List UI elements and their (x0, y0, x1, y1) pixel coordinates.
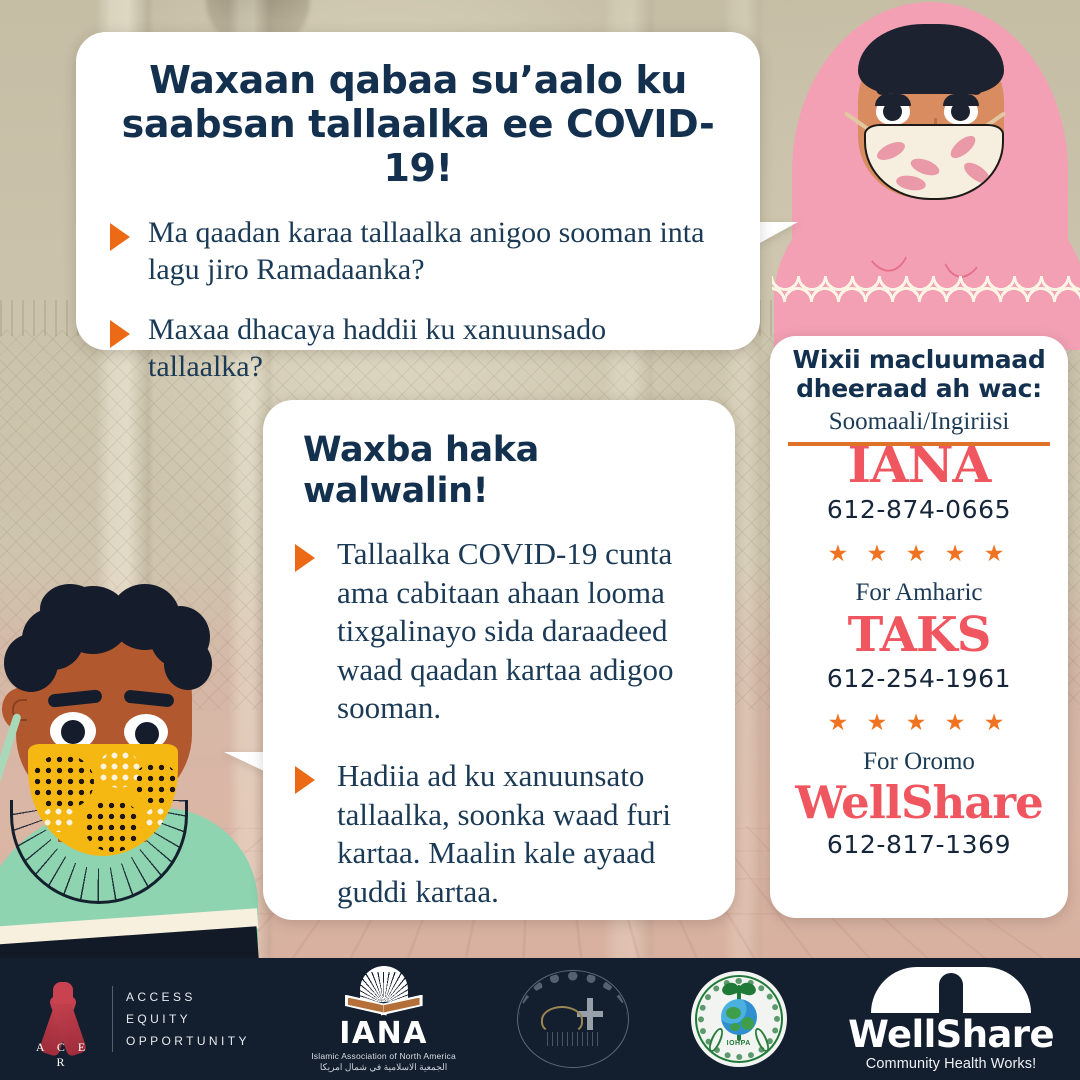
triangle-arrow-icon (295, 766, 315, 794)
man-hair (0, 584, 212, 706)
mask-dot-pattern (134, 762, 178, 804)
contact-org-name: IANA (784, 440, 1054, 490)
iana-book-dome-icon (345, 966, 423, 1018)
acer-value-access: ACCESS (126, 986, 250, 1008)
question-bullet-item: Ma qaadan karaa tallaalka anigoo sooman … (110, 214, 726, 288)
logo-ethiopian-seal (517, 970, 629, 1068)
star-divider: ★ ★ ★ ★ ★ (784, 709, 1054, 736)
contact-phone-number[interactable]: 612-817-1369 (784, 830, 1054, 859)
acer-wordmark: A C E R (26, 1040, 100, 1070)
contact-language-label: Soomaali/Ingiriisi (784, 408, 1054, 436)
globe-landmass (730, 1023, 740, 1031)
mask-dot-pattern (144, 806, 178, 834)
answer-bullet-text: Tallaalka COVID-19 cunta ama cabitaan ah… (337, 535, 701, 727)
contact-phone-number[interactable]: 612-254-1961 (784, 664, 1054, 693)
woman-eyelid (875, 94, 911, 106)
contact-phone-number[interactable]: 612-874-0665 (784, 495, 1054, 524)
poster-canvas: Waxaan qabaa su’aalo ku saabsan tallaalk… (0, 0, 1080, 1080)
question-bullet-item: Maxaa dhacaya haddii ku xanuunsado talla… (110, 311, 726, 385)
contact-language-label: For Amharic (784, 579, 1054, 607)
mask-dot-pattern (32, 754, 94, 810)
wellshare-wordmark: WellShare (848, 1016, 1054, 1053)
triangle-arrow-icon (295, 544, 315, 572)
contact-entry-amharic: For Amharic TAKS 612-254-1961 ★ ★ ★ ★ ★ (784, 579, 1054, 736)
contact-card-heading: Wixii macluumaad dheeraad ah wac: (784, 346, 1054, 404)
globe-landmass (726, 1007, 741, 1019)
iana-ray-lines (360, 972, 408, 1004)
answer-bubble-tail (224, 752, 266, 792)
acer-value-opportunity: OPPORTUNITY (126, 1030, 250, 1052)
iana-arabic-subtitle: الجمعية الاسلامية في شمال امريكا (320, 1062, 447, 1073)
logo-iohpa: IOHPA (691, 971, 787, 1067)
answer-bullet-text: Hadiia ad ku xanuunsato tallaalka, soonk… (337, 757, 701, 911)
seal-emblem (539, 992, 607, 1048)
iohpa-seal-icon: IOHPA (691, 971, 787, 1067)
logo-acer: A C E R ACCESS EQUITY OPPORTUNITY (26, 984, 250, 1054)
question-bubble-tail (758, 222, 798, 266)
triangle-arrow-icon (110, 320, 130, 348)
triangle-arrow-icon (110, 223, 130, 251)
woman-eyelid (943, 94, 979, 106)
hair-curl (4, 634, 58, 692)
answer-bullet-item: Hadiia ad ku xanuunsato tallaalka, soonk… (295, 757, 701, 911)
mask-leaf-pattern (947, 132, 979, 162)
mask-dot-pattern (84, 800, 142, 852)
answer-bullet-item: Tallaalka COVID-19 cunta ama cabitaan ah… (295, 535, 701, 727)
question-bullet-text: Ma qaadan karaa tallaalka anigoo sooman … (148, 214, 726, 288)
acer-value-equity: EQUITY (126, 1008, 250, 1030)
contact-entry-oromo: For Oromo WellShare 612-817-1369 (784, 748, 1054, 859)
wellshare-tagline: Community Health Works! (866, 1056, 1036, 1072)
ethiopian-seal-icon (517, 970, 629, 1068)
mask-leaf-pattern (909, 155, 942, 178)
iana-subtitle: Islamic Association of North America (311, 1051, 456, 1061)
iohpa-abbreviation: IOHPA (691, 1040, 787, 1047)
contact-org-name: TAKS (784, 611, 1054, 659)
answer-bullet-list: Tallaalka COVID-19 cunta ama cabitaan ah… (295, 535, 701, 911)
answer-speech-bubble: Waxba haka walwalin! Tallaalka COVID-19 … (263, 400, 735, 920)
mask-dot-pattern (42, 806, 76, 832)
contact-org-name: WellShare (784, 780, 1054, 825)
acer-a-icon: A C E R (26, 984, 100, 1054)
globe-icon (721, 999, 757, 1035)
hair-curl (40, 584, 100, 634)
acer-a-apex (53, 982, 73, 1004)
contact-entry-somali: Soomaali/Ingiriisi IANA 612-874-0665 ★ ★… (784, 408, 1054, 567)
woman-illustration (780, 0, 1080, 344)
question-bullet-text: Maxaa dhacaya haddii ku xanuunsado talla… (148, 311, 726, 385)
answer-bubble-title: Waxba haka walwalin! (303, 430, 701, 511)
contact-language-label: For Oromo (784, 748, 1054, 776)
acer-values-list: ACCESS EQUITY OPPORTUNITY (112, 986, 250, 1053)
snake-icon (541, 1006, 583, 1034)
hair-curl (164, 638, 212, 690)
question-bullet-list: Ma qaadan karaa tallaalka anigoo sooman … (110, 214, 726, 385)
footer-logo-bar: A C E R ACCESS EQUITY OPPORTUNITY IANA I… (0, 958, 1080, 1080)
globe-landmass (741, 1017, 754, 1030)
question-bubble-title: Waxaan qabaa su’aalo ku saabsan tallaalk… (110, 58, 726, 190)
iana-wordmark: IANA (339, 1019, 428, 1049)
seal-base-text (547, 1032, 601, 1046)
orange-divider (788, 442, 1050, 446)
contact-card: Wixii macluumaad dheeraad ah wac: Soomaa… (770, 336, 1068, 918)
logo-iana: IANA Islamic Association of North Americ… (311, 966, 456, 1073)
logo-wellshare: WellShare Community Health Works! (848, 967, 1054, 1072)
hijab-scallop-trim (772, 276, 1080, 332)
wellshare-arch-icon (871, 967, 1031, 1013)
star-divider: ★ ★ ★ ★ ★ (784, 540, 1054, 567)
question-speech-bubble: Waxaan qabaa su’aalo ku saabsan tallaalk… (76, 32, 760, 350)
